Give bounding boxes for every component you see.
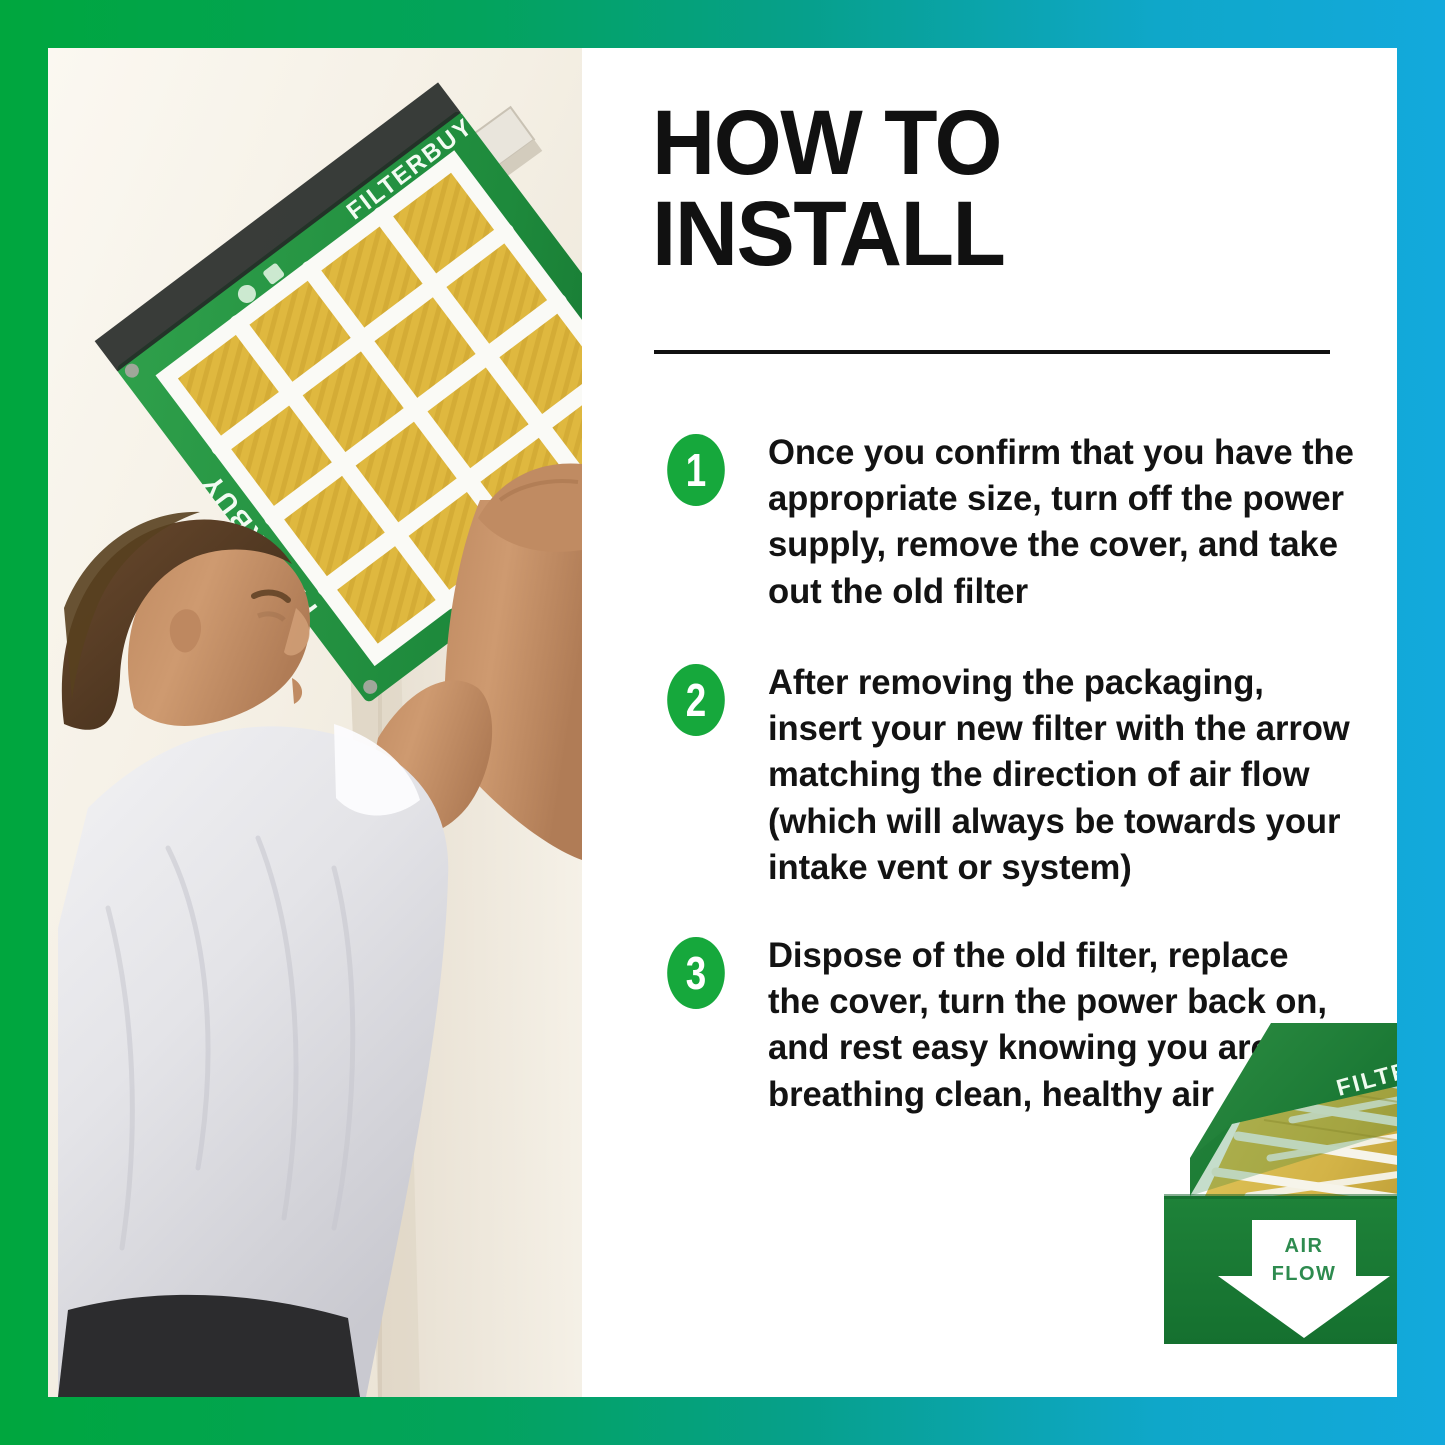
title-divider [654, 350, 1330, 354]
step-1-line-3: supply, remove the cover, and take [768, 522, 1346, 568]
install-photo-illustration: FILTERBUY FILTERBUY [48, 48, 582, 1397]
white-canvas: FILTERBUY FILTERBUY [48, 48, 1397, 1397]
product-filter-illustration: FILTERBUY AIR FLOW [1164, 1008, 1397, 1356]
step-number-badge-1: 1 [667, 434, 725, 506]
step-2-line-3: matching the direction of air flow [768, 752, 1346, 798]
page-title: HOW TO INSTALL [652, 98, 1317, 280]
step-1-line-4: out the old filter [768, 569, 1346, 615]
step-1-line-1: Once you confirm that you have the [768, 430, 1346, 476]
air-flow-label-line-1: AIR [1285, 1235, 1324, 1257]
air-flow-label-line-2: FLOW [1272, 1263, 1337, 1285]
page-title-line-1: HOW TO [652, 98, 1317, 189]
step-2-line-4: (which will always be towards your [768, 799, 1346, 845]
page-title-line-2: INSTALL [652, 189, 1317, 280]
step-number-badge-3: 3 [667, 937, 725, 1009]
product-filter-photo: FILTERBUY AIR FLOW [1164, 1008, 1397, 1356]
step-text-1: Once you confirm that you have the appro… [768, 430, 1346, 615]
content-column: HOW TO INSTALL 1 Once you confirm that y… [652, 48, 1397, 1397]
step-1-line-2: appropriate size, turn off the power [768, 476, 1346, 522]
step-number-badge-2: 2 [667, 664, 725, 736]
step-3-line-1: Dispose of the old filter, replace [768, 933, 1346, 979]
step-2-line-1: After removing the packaging, [768, 660, 1346, 706]
step-text-2: After removing the packaging, insert you… [768, 660, 1346, 891]
step-2-line-5: intake vent or system) [768, 845, 1346, 891]
install-photo: FILTERBUY FILTERBUY [48, 48, 582, 1397]
infographic-page: FILTERBUY FILTERBUY [0, 0, 1445, 1445]
step-2-line-2: insert your new filter with the arrow [768, 706, 1346, 752]
